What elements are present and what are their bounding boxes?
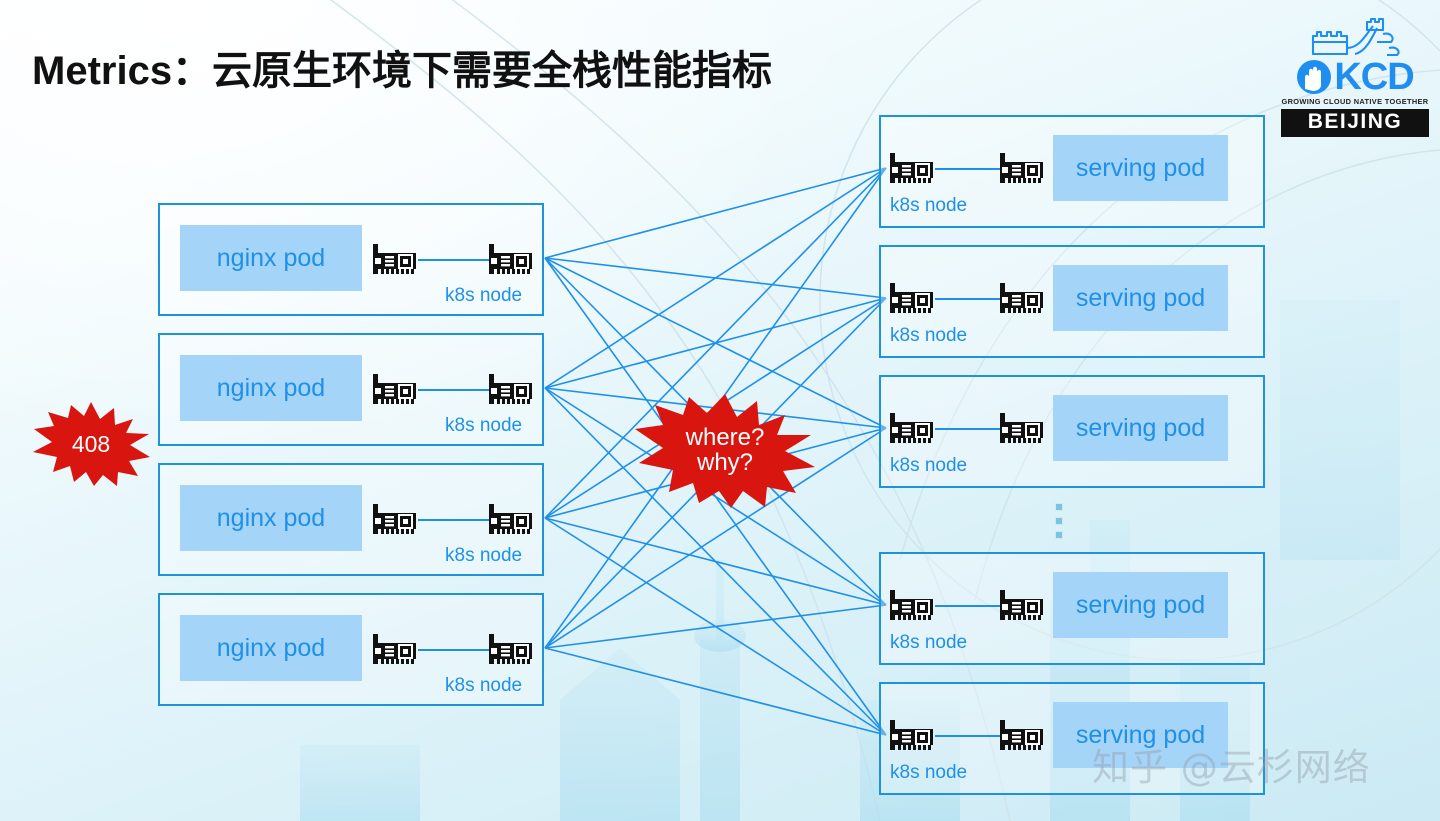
k8s-node-label: k8s node [890,632,967,654]
serving-pod-chip[interactable]: serving pod [1053,265,1228,331]
nic-icon [488,501,536,541]
nic-icon [372,631,420,671]
k8s-node-label: k8s node [890,325,967,347]
ellipsis-dot [1055,517,1063,525]
nic-link [418,519,490,521]
slide-canvas: Metrics：云原生环境下需要全栈性能指标 KCD GROWING CLOUD… [0,0,1440,821]
nic-link [935,605,1001,607]
pod-label: serving pod [1076,591,1205,620]
k8s-node-box-left-1[interactable]: nginx pod [158,203,544,316]
nginx-pod-chip[interactable]: nginx pod [180,615,362,681]
k8s-node-label: k8s node [445,675,522,697]
pod-label: serving pod [1076,414,1205,443]
nic-link [418,389,490,391]
callout-text: where? why? [686,425,765,476]
more-nodes-ellipsis-icon [1055,503,1063,539]
nic-icon [999,717,1047,757]
nic-link [935,428,1001,430]
serving-pod-chip[interactable]: serving pod [1053,572,1228,638]
nic-icon [889,587,937,627]
k8s-node-label: k8s node [445,545,522,567]
ellipsis-dot [1055,531,1063,539]
nic-icon [488,371,536,411]
k8s-node-box-left-4[interactable]: nginx pod [158,593,544,706]
nic-link [418,649,490,651]
k8s-node-box-left-3[interactable]: nginx pod [158,463,544,576]
pod-label: nginx pod [217,244,325,273]
ellipsis-dot [1055,503,1063,511]
k8s-node-label: k8s node [890,455,967,477]
nic-icon [889,150,937,190]
k8s-node-box-left-2[interactable]: nginx pod [158,333,544,446]
k8s-node-label: k8s node [445,285,522,307]
k8s-node-box-right-4[interactable]: serving pod k8s node [879,552,1265,665]
serving-pod-chip[interactable]: serving pod [1053,135,1228,201]
error-408-badge[interactable]: 408 [30,400,152,488]
nginx-pod-chip[interactable]: nginx pod [180,355,362,421]
error-code-text: 408 [72,432,110,456]
nic-icon [999,280,1047,320]
k8s-node-box-right-3[interactable]: serving pod k8s node [879,375,1265,488]
nic-icon [889,280,937,320]
nic-icon [889,717,937,757]
nic-icon [372,241,420,281]
zhihu-watermark: 知乎 @云杉网络 [1092,737,1371,791]
nic-icon [372,371,420,411]
pod-label: nginx pod [217,374,325,403]
nic-icon [999,150,1047,190]
k8s-node-label: k8s node [890,762,967,784]
nginx-pod-chip[interactable]: nginx pod [180,485,362,551]
nic-link [418,259,490,261]
k8s-node-label: k8s node [445,415,522,437]
nic-icon [488,241,536,281]
callout-line-1: where? [686,424,765,451]
pod-label: serving pod [1076,154,1205,183]
nic-icon [372,501,420,541]
k8s-node-box-right-2[interactable]: serving pod k8s node [879,245,1265,358]
serving-pod-chip[interactable]: serving pod [1053,395,1228,461]
nic-link [935,735,1001,737]
k8s-node-box-right-1[interactable]: serving pod k8s node [879,115,1265,228]
nic-icon [999,410,1047,450]
nic-icon [889,410,937,450]
where-why-callout[interactable]: where? why? [633,391,817,509]
nic-icon [999,587,1047,627]
nginx-pod-chip[interactable]: nginx pod [180,225,362,291]
callout-line-2: why? [697,449,753,476]
pod-label: serving pod [1076,284,1205,313]
nic-link [935,298,1001,300]
nic-link [935,168,1001,170]
pod-label: nginx pod [217,634,325,663]
pod-label: nginx pod [217,504,325,533]
nic-icon [488,631,536,671]
k8s-node-label: k8s node [890,195,967,217]
